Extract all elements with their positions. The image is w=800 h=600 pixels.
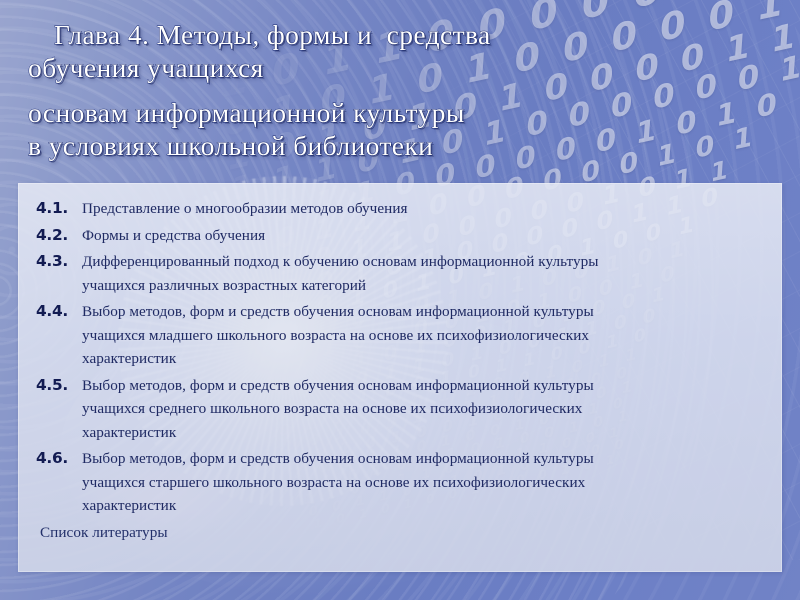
list-item: 4.3. Дифференцированный подход к обучени… — [32, 250, 766, 297]
list-item-body: Выбор методов, форм и средств обучения о… — [82, 374, 766, 445]
slide-title-line-2: обучения учащихся — [28, 51, 770, 84]
presentation-slide: 1 0 1 1 0 0 0 0 0 0 0 1 1 10 1 0 1 0 1 0… — [0, 0, 800, 600]
list-item-line: характеристик — [82, 347, 766, 371]
list-item-number: 4.4. — [36, 300, 68, 324]
list-item-number: 4.2. — [36, 224, 68, 248]
list-item-body: Выбор методов, форм и средств обучения о… — [82, 300, 766, 371]
slide-title-line-4: в условиях школьной библиотеки — [28, 129, 770, 162]
list-item-line: учащихся младшего школьного возраста на … — [82, 324, 766, 348]
list-item-line: характеристик — [82, 421, 766, 445]
list-item-line: Выбор методов, форм и средств обучения о… — [82, 374, 766, 398]
list-item-line: учащихся среднего школьного возраста на … — [82, 397, 766, 421]
list-item-references: Список литературы — [32, 521, 766, 545]
slide-title: Глава 4. Методы, формы и средства обучен… — [28, 18, 770, 162]
list-item-line: Выбор методов, форм и средств обучения о… — [82, 447, 766, 471]
list-item-line: учащихся различных возрастных категорий — [82, 274, 766, 298]
list-item: 4.2. Формы и средства обучения — [32, 224, 766, 248]
list-item-body: Формы и средства обучения — [82, 224, 766, 248]
list-item-line: Выбор методов, форм и средств обучения о… — [82, 300, 766, 324]
list-item: 4.1. Представление о многообразии методо… — [32, 197, 766, 221]
list-item-number: 4.1. — [36, 197, 68, 221]
list-item: 4.6. Выбор методов, форм и средств обуче… — [32, 447, 766, 518]
content-panel-inner: 4.1. Представление о многообразии методо… — [18, 183, 782, 572]
list-item-number: 4.5. — [36, 374, 68, 398]
list-item-body: Список литературы — [40, 521, 766, 545]
list-item-line: характеристик — [82, 494, 766, 518]
slide-title-line-3: основам информационной культуры — [28, 96, 770, 129]
list-item-number: 4.6. — [36, 447, 68, 471]
list-item-body: Выбор методов, форм и средств обучения о… — [82, 447, 766, 518]
list-item-line: учащихся старшего школьного возраста на … — [82, 471, 766, 495]
content-panel: 4.1. Представление о многообразии методо… — [18, 183, 782, 572]
list-item: 4.4. Выбор методов, форм и средств обуче… — [32, 300, 766, 371]
list-item-line: Формы и средства обучения — [82, 224, 766, 248]
list-item-number: 4.3. — [36, 250, 68, 274]
list-item-body: Дифференцированный подход к обучению осн… — [82, 250, 766, 297]
list-item-line: Дифференцированный подход к обучению осн… — [82, 250, 766, 274]
list-item-line: Представление о многообразии методов обу… — [82, 197, 766, 221]
slide-title-line-1: Глава 4. Методы, формы и средства — [28, 18, 770, 51]
list-item: 4.5. Выбор методов, форм и средств обуче… — [32, 374, 766, 445]
list-item-body: Представление о многообразии методов обу… — [82, 197, 766, 221]
